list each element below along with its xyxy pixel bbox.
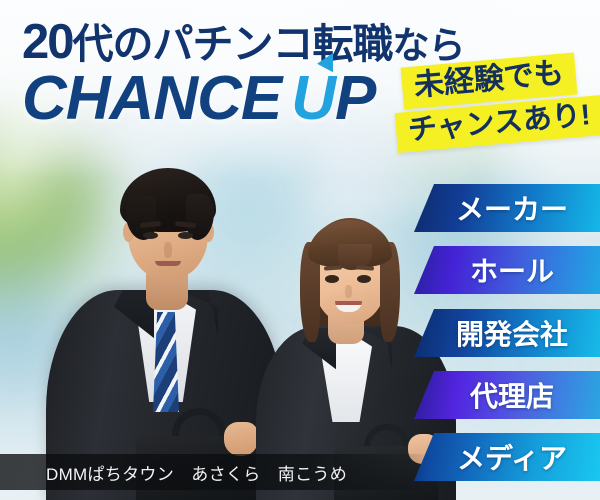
category-label: メディア: [447, 437, 567, 477]
category-button-list: メーカー ホール 開発会社 代理店 メディア: [0, 0, 600, 500]
category-label: ホール: [460, 250, 554, 290]
category-button-development-company[interactable]: 開発会社: [414, 309, 600, 357]
category-label: メーカー: [446, 188, 568, 228]
caption-text: DMMぱちタウン あさくら 南こうめ: [0, 460, 347, 485]
pachinko-recruit-banner: 20代のパチンコ転職なら CHANCEUP 未経験でも チャンスあり! メーカー…: [0, 0, 600, 500]
category-button-media[interactable]: メディア: [414, 433, 600, 481]
category-button-agency[interactable]: 代理店: [414, 371, 600, 419]
category-label: 代理店: [460, 375, 554, 415]
category-button-hall[interactable]: ホール: [414, 246, 600, 294]
caption-bar: DMMぱちタウン あさくら 南こうめ: [0, 454, 430, 490]
category-button-maker[interactable]: メーカー: [414, 184, 600, 232]
category-label: 開発会社: [446, 313, 568, 353]
